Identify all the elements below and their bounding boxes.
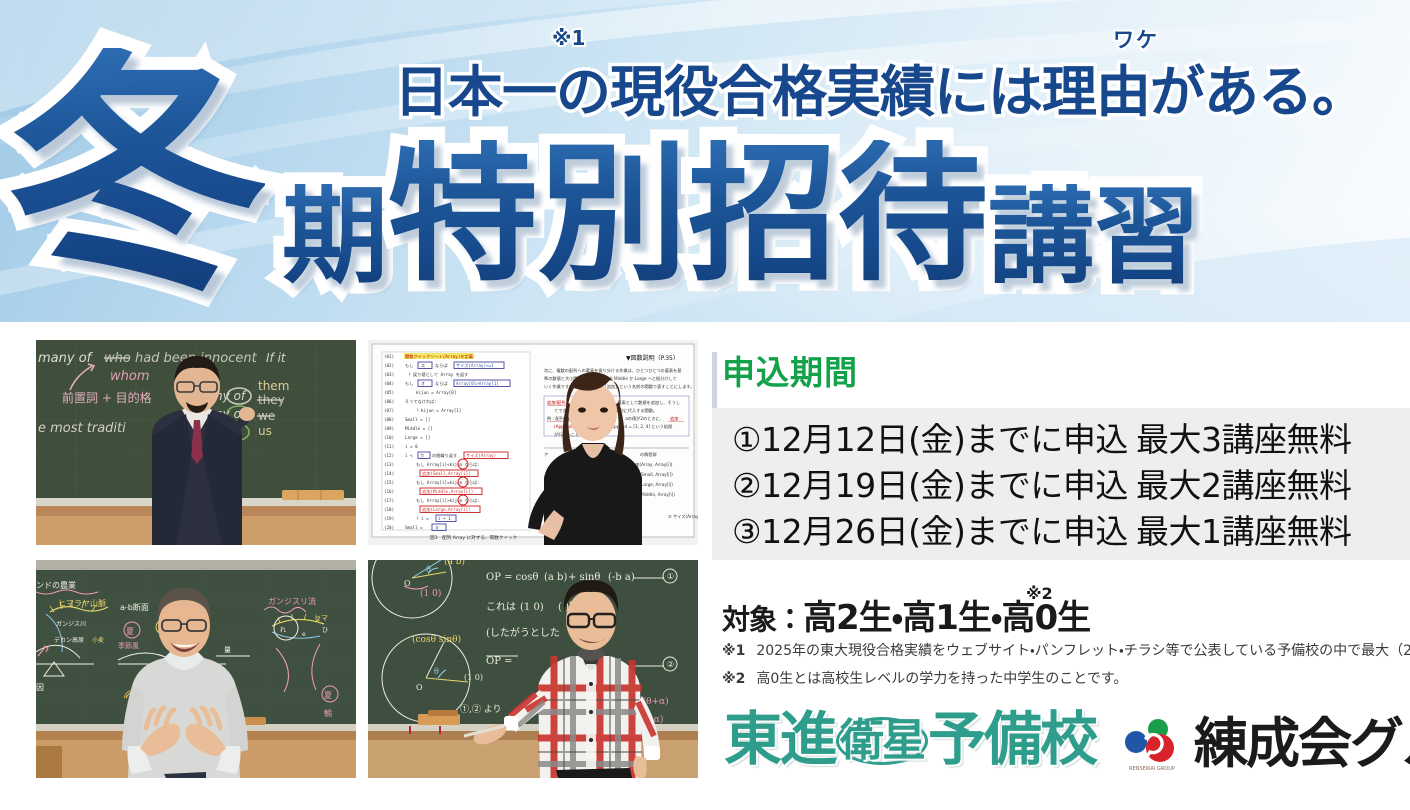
- svg-text:これは: これは: [486, 601, 516, 613]
- title-part-shoutai: 招待: [688, 140, 988, 290]
- svg-text:O: O: [416, 683, 423, 692]
- svg-text:もし: もし: [405, 381, 413, 386]
- svg-text:(05): (05): [384, 390, 394, 395]
- apply-row: ①12月12日(金)までに申込 最大3講座無料: [732, 414, 1392, 460]
- svg-text:(08): (08): [384, 417, 394, 422]
- svg-text:(02): (02): [384, 363, 394, 368]
- apply-benefit: 最大1講座無料: [1136, 505, 1352, 553]
- svg-text:ンドの農業: ンドの農業: [36, 580, 76, 590]
- svg-text:② サイズ(Array): ② サイズ(Array): [668, 513, 698, 520]
- svg-text:Small = []: Small = []: [405, 417, 430, 422]
- svg-text:(18): (18): [384, 507, 394, 512]
- svg-text:└ i =: └ i =: [416, 516, 429, 521]
- svg-text:Array[0]>Array[1]: Array[0]>Array[1]: [456, 381, 499, 386]
- title-rest-fill: 期特別招待講習: [282, 140, 1200, 290]
- footnote-2-mark: ※2: [722, 671, 745, 687]
- svg-text:季節風: 季節風: [118, 641, 139, 650]
- svg-text:もし Array[i]<kijun ならば:: もし Array[i]<kijun ならば:: [416, 461, 480, 468]
- svg-text:└ kijun = Array[1]: └ kijun = Array[1]: [416, 408, 461, 413]
- apply-benefit: 最大2講座無料: [1136, 459, 1352, 507]
- svg-text:もし Array[i]=kijun ならば:: もし Array[i]=kijun ならば:: [416, 479, 480, 486]
- photo-english-teacher: many of who had been innocent whom If it…: [36, 340, 356, 545]
- svg-text:れ: れ: [280, 627, 286, 634]
- headline-footnote-mark: ※1: [552, 26, 585, 50]
- svg-text:e: e: [302, 631, 306, 638]
- svg-text:ひ: ひ: [322, 627, 328, 634]
- svg-text:a-b断面: a-b断面: [120, 602, 149, 612]
- logo-rensei-text: 練成会グループ: [1194, 717, 1410, 771]
- svg-text:前置詞 + 目的格: 前置詞 + 目的格: [62, 390, 152, 405]
- svg-text:O: O: [404, 579, 411, 588]
- svg-text:ヒマ: ヒマ: [314, 614, 328, 622]
- footnote-1: ※12025年の東大現役合格実績をウェブサイト・パンフレット・チラシ等で公表して…: [722, 640, 1410, 660]
- svg-text:そうでなければ:: そうでなければ:: [405, 398, 437, 405]
- svg-text:追加: 追加: [670, 415, 678, 422]
- svg-text:(04): (04): [384, 381, 394, 386]
- svg-text:量: 量: [224, 646, 231, 654]
- footnote-1-text: 2025年の東大現役合格実績をウェブサイト・パンフレット・チラシ等で公表している…: [756, 643, 1410, 659]
- svg-text:小麦: 小麦: [92, 636, 104, 644]
- svg-text:RENSEIKAI GROUP: RENSEIKAI GROUP: [1129, 766, 1175, 772]
- svg-text:もし Array[i]>kijun ならば:: もし Array[i]>kijun ならば:: [416, 497, 480, 504]
- hero-headline-text: 日本一の現役合格実績には理由がある。: [394, 65, 1366, 120]
- svg-text:輸: 輸: [324, 708, 332, 718]
- target-label: 対象：: [722, 603, 803, 636]
- footnote-1-mark: ※1: [722, 643, 745, 659]
- svg-text:因: 因: [36, 683, 44, 692]
- svg-text:i <: i <: [405, 453, 413, 458]
- svg-text:(07): (07): [384, 408, 394, 413]
- svg-text:追加(Small,Array[i]): 追加(Small,Array[i]): [422, 470, 471, 477]
- footnote-2-text: 高0生とは高校生レベルの学力を持った中学生のことです。: [756, 671, 1127, 687]
- title-fuyu-fill: 冬: [10, 48, 265, 303]
- svg-text:▼図数説明（P.35）: ▼図数説明（P.35）: [626, 354, 679, 362]
- banner-root: 日本一の現役合格実績には理由がある。 ※1 ワケ 冬 冬 期特別招待講習 期特別…: [0, 0, 1410, 810]
- target-value: 高2生・高1生・高0生: [803, 598, 1090, 638]
- apply-deadline: ①12月12日(金)までに申込: [732, 413, 1136, 461]
- title-part-ki: 期: [282, 184, 388, 290]
- svg-text:(cosθ sinθ): (cosθ sinθ): [412, 634, 461, 645]
- photo-geography-teacher: ンドの農業 ヒマラヤ山脈 ガンジス川 デカン高原 小麦 因: [36, 560, 356, 778]
- hero-band: 日本一の現役合格実績には理由がある。 ※1 ワケ 冬 冬 期特別招待講習 期特別…: [0, 0, 1410, 322]
- svg-text:(10): (10): [384, 435, 394, 440]
- svg-text:(a b): (a b): [444, 560, 465, 567]
- headline-ruby-wake: ワケ: [1113, 24, 1159, 54]
- logo-rensei-group: RENSEIKAI GROUP 練成会グループ: [1120, 712, 1410, 776]
- svg-text:ならば: ならば: [435, 362, 448, 369]
- svg-text:の解答群: の解答群: [640, 451, 658, 458]
- svg-text:(20): (20): [384, 525, 394, 530]
- svg-text:の間繰り返す: の間繰り返す: [432, 452, 457, 459]
- svg-text:②: ②: [667, 660, 674, 669]
- apply-period-box: ①12月12日(金)までに申込 最大3講座無料 ②12月19日(金)までに申込 …: [712, 408, 1410, 560]
- apply-deadline: ③12月26日(金)までに申込: [732, 505, 1136, 553]
- apply-row: ③12月26日(金)までに申込 最大1講座無料: [732, 506, 1392, 552]
- svg-text:図3 配列 Array に対する、関数クイック: 図3 配列 Array に対する、関数クイック: [430, 534, 517, 541]
- svg-text:(06): (06): [384, 399, 394, 404]
- photo-informatics-teacher: (01)関数クイックソート(Array)を定義 (02)もしエならばサイズ(Ar…: [368, 340, 698, 545]
- svg-text:夏: 夏: [324, 691, 332, 700]
- svg-text:θ: θ: [434, 667, 439, 676]
- svg-text:Small =: Small =: [405, 525, 423, 530]
- svg-text:サイズ(Array): サイズ(Array): [466, 452, 496, 459]
- svg-text:次に、複数の配列への要素を振り分ける作業は、ひとつひとつの要: 次に、複数の配列への要素を振り分ける作業は、ひとつひとつの要素を基: [544, 367, 682, 374]
- svg-text:(したがうとした: (したがうとした: [486, 626, 560, 639]
- apply-row: ②12月19日(金)までに申込 最大2講座無料: [732, 460, 1392, 506]
- svg-text:kijun = Array[0]: kijun = Array[0]: [416, 390, 456, 395]
- photo-math-teacher: θ (a b) (1 0) O OP = cosθ (a b) + sinθ (…: [368, 560, 698, 778]
- svg-text:(1 0): (1 0): [464, 673, 483, 682]
- svg-text:i = 0: i = 0: [405, 444, 418, 449]
- svg-text:ガンジスリ流: ガンジスリ流: [268, 596, 316, 606]
- svg-text:ガンジス川: ガンジス川: [56, 620, 86, 628]
- logo-toshin-eisei-yobiko: 東進衛星予備校: [724, 710, 1096, 768]
- svg-text:もし: もし: [405, 363, 413, 368]
- title-part-koushuu: 講習: [988, 184, 1200, 290]
- svg-text:(14): (14): [384, 471, 394, 476]
- svg-text:追加(Middle,Array[i]): 追加(Middle,Array[i]): [422, 488, 473, 495]
- svg-text:(13): (13): [384, 462, 394, 467]
- svg-text:└ 戻り値として Array を返す: └ 戻り値として Array を返す: [408, 371, 468, 378]
- target-footnote-mark: ※2: [1026, 584, 1053, 603]
- apply-accent-bar: [712, 352, 717, 414]
- svg-text:(12): (12): [384, 453, 394, 458]
- svg-text:(03): (03): [384, 372, 394, 377]
- svg-text:whom: whom: [110, 369, 150, 384]
- svg-text:(17): (17): [384, 498, 394, 503]
- logo-toshin-part1: 東進: [724, 705, 836, 773]
- svg-text:(16): (16): [384, 489, 394, 494]
- svg-text:(19): (19): [384, 516, 394, 521]
- svg-text:で、aの値が2のときに、: で、aの値が2のときに、: [617, 415, 664, 422]
- svg-text:If it: If it: [266, 351, 287, 365]
- svg-text:デカン高原: デカン高原: [54, 636, 84, 644]
- svg-text:them: them: [258, 379, 289, 393]
- rensei-flower-mark-icon: RENSEIKAI GROUP: [1120, 712, 1184, 776]
- apply-period-title: 申込期間: [722, 356, 858, 389]
- svg-text:(15): (15): [384, 480, 394, 485]
- svg-text:①,② より: ①,② より: [460, 704, 502, 715]
- svg-text:Middle = []: Middle = []: [405, 426, 433, 431]
- svg-text:many of: many of: [38, 351, 94, 366]
- logo-toshin-part2: 予備校: [928, 705, 1096, 773]
- footnote-2: ※2高0生とは高校生レベルの学力を持った中学生のことです。: [722, 668, 1127, 688]
- svg-text:関数クイックソート(Array)を定義: 関数クイックソート(Array)を定義: [405, 353, 474, 360]
- svg-text:エ: エ: [421, 363, 425, 368]
- svg-text:追加(Large,Array[i]): 追加(Large,Array[i]): [422, 506, 471, 513]
- apply-benefit: 最大3講座無料: [1136, 413, 1352, 461]
- hero-headline: 日本一の現役合格実績には理由がある。: [430, 40, 1330, 120]
- svg-text:ならば: ならば: [435, 380, 448, 387]
- svg-text:e most traditi: e most traditi: [38, 421, 126, 436]
- svg-text:夏: 夏: [126, 627, 134, 636]
- title-part-tokubetsu: 特別: [388, 140, 688, 290]
- svg-text:いく作業ですから、この場合を「追加」という名前の関数で表すこ: いく作業ですから、この場合を「追加」という名前の関数で表すことにします。: [544, 383, 694, 390]
- svg-text:(1 0): (1 0): [520, 602, 544, 613]
- svg-text:Large = []: Large = []: [405, 435, 430, 440]
- svg-text:オ: オ: [421, 381, 425, 386]
- svg-text:サイズ(Array)<=1: サイズ(Array)<=1: [456, 362, 494, 369]
- svg-text:OP =: OP =: [486, 656, 512, 667]
- svg-text:(01): (01): [384, 354, 394, 359]
- svg-text:(11): (11): [384, 444, 394, 449]
- svg-text:(1 0): (1 0): [420, 588, 441, 599]
- svg-text:(a b): (a b): [544, 572, 567, 583]
- svg-text:(09): (09): [384, 426, 394, 431]
- svg-text:us: us: [258, 424, 272, 438]
- svg-text:①: ①: [667, 572, 674, 581]
- svg-text:OP = cosθ: OP = cosθ: [486, 572, 538, 583]
- svg-text:i + 1: i + 1: [438, 516, 451, 521]
- svg-text:(-b a): (-b a): [608, 572, 635, 583]
- svg-text:θ: θ: [426, 565, 431, 574]
- logo-toshin-circled: 衛星: [836, 717, 928, 765]
- apply-deadline: ②12月19日(金)までに申込: [732, 459, 1136, 507]
- svg-text:キ: キ: [435, 525, 439, 530]
